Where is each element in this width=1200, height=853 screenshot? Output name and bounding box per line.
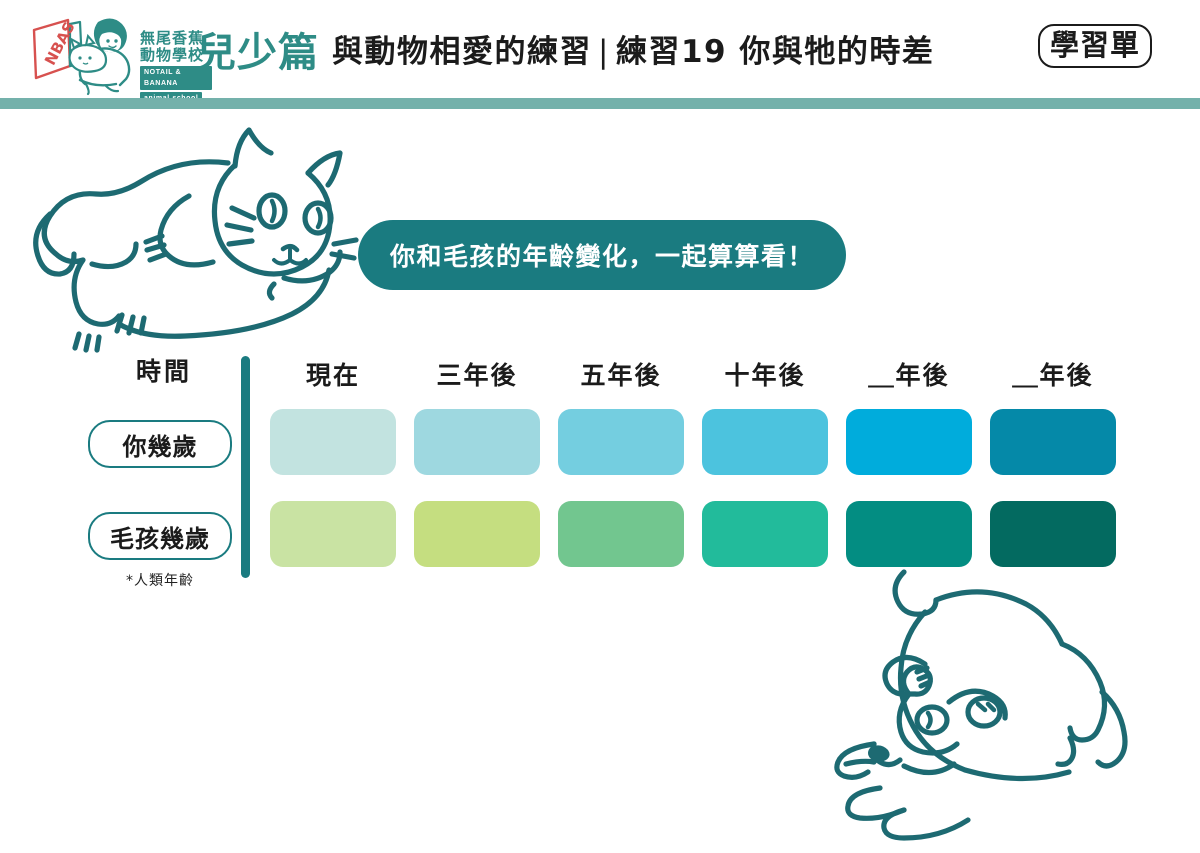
cell-pet-0[interactable] — [270, 501, 396, 567]
column-header-3: 十年後 — [692, 356, 838, 392]
brand-cn-line1: 無尾香蕉 — [140, 30, 204, 47]
cell-pet-1[interactable] — [414, 501, 540, 567]
cell-you-0[interactable] — [270, 409, 396, 475]
row-label-pet: 毛孩幾歲 — [88, 512, 232, 560]
cell-pet-3[interactable] — [702, 501, 828, 567]
table-vertical-divider — [241, 356, 250, 578]
column-header-4: ＿年後 — [836, 356, 982, 392]
worksheet-badge: 學習單 — [1038, 24, 1152, 68]
title-separator: | — [592, 34, 616, 70]
brand-name-chinese: 無尾香蕉 動物學校 — [140, 30, 204, 64]
cell-you-5[interactable] — [990, 409, 1116, 475]
cat-illustration — [22, 118, 402, 353]
column-header-2: 五年後 — [548, 356, 694, 392]
column-header-0: 現在 — [260, 356, 406, 392]
title-text: 與動物相愛的練習 — [332, 34, 592, 70]
cell-pet-2[interactable] — [558, 501, 684, 567]
cell-you-2[interactable] — [558, 409, 684, 475]
title-subtitle: 練習19 你與牠的時差 — [616, 34, 934, 70]
page-title: 與動物相愛的練習|練習19 你與牠的時差 — [332, 26, 934, 71]
speech-bubble: 你和毛孩的年齡變化，一起算算看！ — [358, 220, 846, 290]
table-footnote: *人類年齡 — [100, 570, 220, 590]
header-divider — [0, 98, 1200, 109]
dog-illustration — [812, 552, 1200, 848]
cell-you-1[interactable] — [414, 409, 540, 475]
row-label-you: 你幾歲 — [88, 420, 232, 468]
brand-cn-line2: 動物學校 — [140, 47, 204, 64]
time-row-header: 時間 — [104, 352, 224, 388]
cat-icon — [22, 118, 402, 353]
series-label: 兒少篇 — [196, 20, 319, 78]
cell-you-3[interactable] — [702, 409, 828, 475]
page-header: NBAS 無尾香蕉 動物學校 NOTAIL — [0, 0, 1200, 100]
cell-you-4[interactable] — [846, 409, 972, 475]
brand-logo: NBAS 無尾香蕉 動物學校 NOTAIL — [22, 8, 212, 96]
dog-icon — [812, 552, 1200, 848]
column-header-5: ＿年後 — [980, 356, 1126, 392]
column-header-1: 三年後 — [404, 356, 550, 392]
